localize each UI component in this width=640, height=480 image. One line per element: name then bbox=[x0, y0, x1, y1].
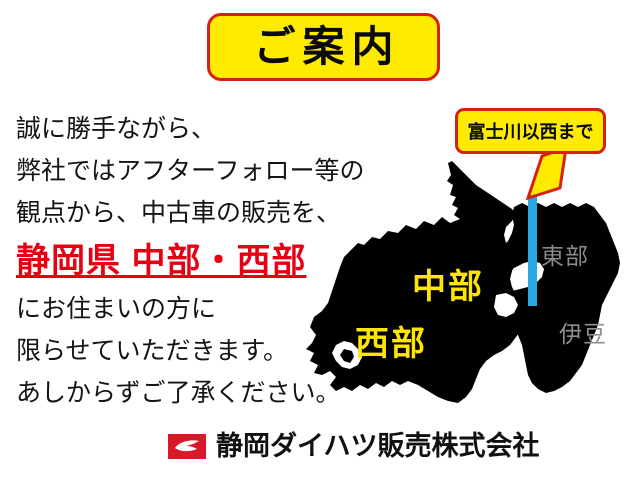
notice-page: ご案内 誠に勝手ながら、 弊社ではアフターフォロー等の 観点から、中古車の販売を… bbox=[0, 0, 640, 480]
shizuoka-map: 中部 西部 東部 伊豆 bbox=[300, 145, 640, 415]
notice-line-2: 弊社ではアフターフォロー等の bbox=[16, 150, 346, 192]
map-label-izu: 伊豆 bbox=[559, 323, 607, 346]
map-label-seibu: 西部 bbox=[355, 327, 427, 361]
map-callout-bubble: 富士川以西まで bbox=[455, 108, 606, 154]
map-label-tobu: 東部 bbox=[541, 245, 589, 268]
notice-body: 誠に勝手ながら、 弊社ではアフターフォロー等の 観点から、中古車の販売を、 静岡… bbox=[16, 108, 346, 414]
page-title: ご案内 bbox=[246, 26, 400, 68]
callout-tail-icon bbox=[520, 148, 568, 200]
notice-line-3: 観点から、中古車の販売を、 bbox=[16, 192, 346, 234]
notice-line-7: あしからずご了承ください。 bbox=[16, 372, 346, 414]
company-name: 静岡ダイハツ販売株式会社 bbox=[216, 433, 539, 460]
title-banner: ご案内 bbox=[207, 13, 440, 81]
daihatsu-logo-icon bbox=[168, 434, 206, 459]
notice-line-6: 限らせていただきます。 bbox=[16, 330, 346, 372]
notice-line-1: 誠に勝手ながら、 bbox=[16, 108, 346, 150]
notice-emphasis-region: 静岡県 中部・西部 bbox=[16, 234, 346, 288]
footer: 静岡ダイハツ販売株式会社 bbox=[168, 433, 539, 460]
callout-label: 富士川以西まで bbox=[468, 118, 594, 144]
notice-line-5: にお住まいの方に bbox=[16, 288, 346, 330]
fuji-river-boundary-line bbox=[528, 196, 537, 306]
map-label-chubu: 中部 bbox=[412, 270, 484, 304]
